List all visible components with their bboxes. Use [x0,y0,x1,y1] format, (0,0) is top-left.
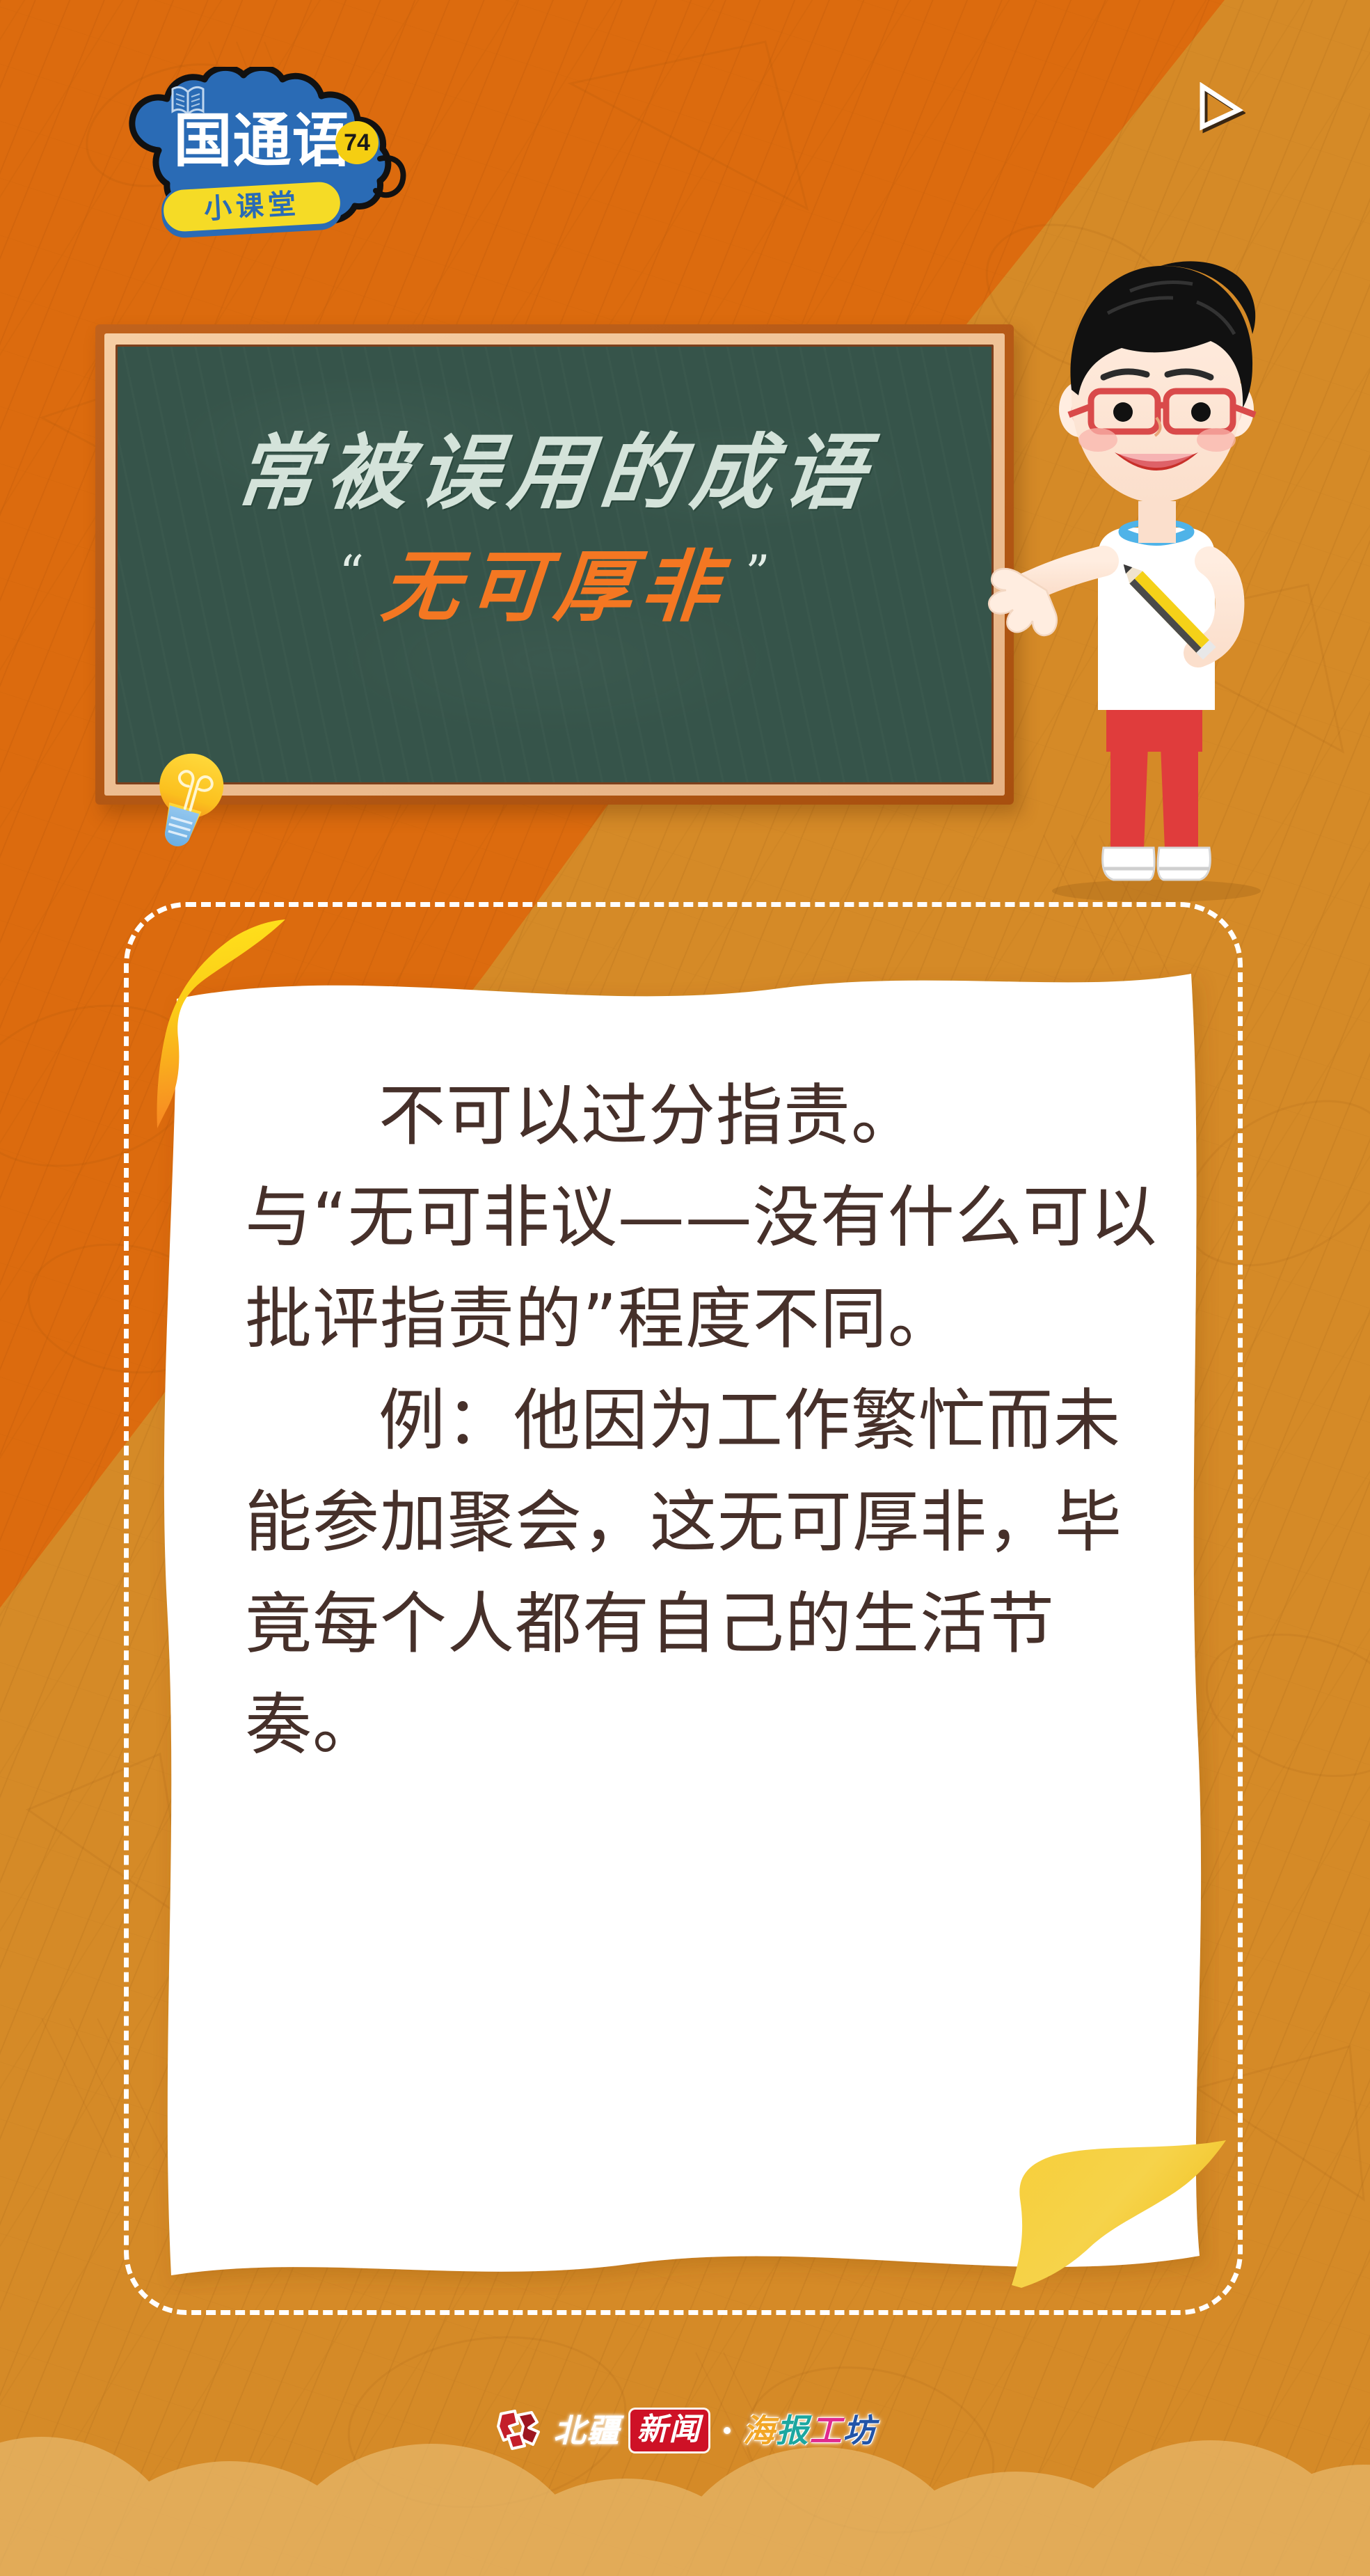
boy-mascot [974,223,1322,905]
mascot-neck [1138,501,1176,543]
footer-workshop-name: 海 报 工 坊 [743,2415,877,2447]
mascot-shadow [1052,880,1261,902]
mascot-eye-left [1113,402,1133,422]
mascot-blush-left [1078,428,1117,452]
card-paragraph-1: 不可以过分指责。 [245,1066,1170,1167]
quote-close: ” [745,549,770,598]
poster-root: 国通语 74 小课堂 常被误用的成语 “ 无可厚非 ” [0,0,1370,2576]
blackboard-inner-frame: 常被误用的成语 “ 无可厚非 ” [104,333,1005,796]
brand-logo[interactable]: 国通语 74 小课堂 [103,67,423,255]
workshop-char-4: 坊 [843,2415,877,2447]
logo-subtitle: 小课堂 [203,190,301,223]
blackboard-title: 常被误用的成语 [116,432,994,514]
play-triangle-icon [1195,82,1245,134]
blackboard-idiom-row: “ 无可厚非 ” [118,548,991,626]
quote-open: “ [339,549,364,598]
workshop-char-1: 海 [743,2415,776,2447]
beijiang-emblem-icon [494,2408,547,2453]
content-card: 不可以过分指责。 与“无可非议——没有什么可以批评指责的”程度不同。 例：他因为… [148,922,1219,2295]
workshop-char-2: 报 [776,2415,810,2447]
blackboard-surface: 常被误用的成语 “ 无可厚非 ” [116,345,994,784]
mascot-blush-right [1197,428,1236,452]
blackboard-idiom: 无可厚非 [379,548,731,626]
ribbon-fold-bottom-right [999,2139,1229,2306]
footer-news-badge: 新闻 [630,2410,708,2451]
workshop-char-3: 工 [810,2415,843,2447]
footer-separator-dot [724,2427,731,2434]
mascot-shoes [1103,848,1211,880]
card-paragraph-2: 与“无可非议——没有什么可以批评指责的”程度不同。 [245,1167,1170,1370]
issue-number-badge: 74 [335,121,379,164]
mascot-legs [1106,710,1202,849]
card-paragraph-3: 例：他因为工作繁忙而未能参加聚会，这无可厚非，毕竟每个人都有自己的生活节奏。 [245,1370,1170,1777]
footer-branding[interactable]: 北疆 新闻 海 报 工 坊 [0,2403,1370,2458]
light-bulb-icon [152,750,234,856]
blackboard: 常被误用的成语 “ 无可厚非 ” [95,324,1014,805]
mascot-eye-right [1191,402,1211,422]
footer-brand-name: 北疆 [554,2415,621,2447]
card-body-text: 不可以过分指责。 与“无可非议——没有什么可以批评指责的”程度不同。 例：他因为… [245,1066,1170,1776]
